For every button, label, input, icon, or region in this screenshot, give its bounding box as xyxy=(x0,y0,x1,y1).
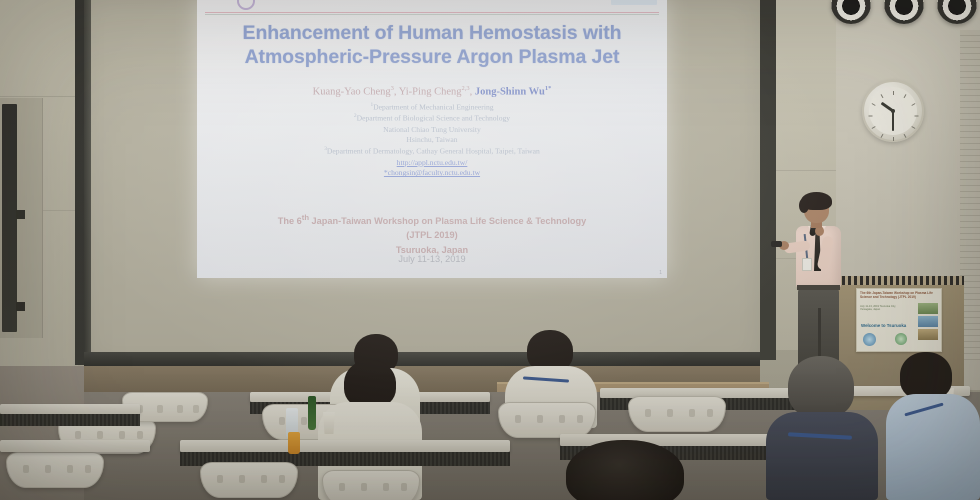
projected-slide: JTPL 2019 Enhancement of Human Hemostasi… xyxy=(197,0,667,278)
slide-title-line-1: Enhancement of Human Hemostasis with xyxy=(211,22,653,46)
clock-minute-hand xyxy=(892,111,894,131)
affiliation-text: Hsinchu, Taiwan xyxy=(406,135,457,144)
desk xyxy=(0,404,140,414)
meeting-title-rest: Japan-Taiwan Workshop on Plasma Life Sci… xyxy=(309,216,586,226)
lecture-hall-photo: JTPL 2019 Enhancement of Human Hemostasi… xyxy=(0,0,980,500)
slide-page-number: 1 xyxy=(659,270,662,276)
tea-bottle xyxy=(288,432,300,454)
poster-welcome-text: Welcome to Tsuruoka xyxy=(861,323,906,328)
author-2-sup: 2,3 xyxy=(461,85,469,92)
meeting-ordinal-sup: th xyxy=(302,213,309,222)
poster-body: July 11-13, 2019 Tsuruoka City, Yamagata… xyxy=(860,305,906,312)
author-2: , Yi-Ping Cheng xyxy=(394,87,462,98)
presenter-hair-side xyxy=(799,198,809,213)
slide-title: Enhancement of Human Hemostasis with Atm… xyxy=(211,22,653,70)
dark-column xyxy=(75,0,84,365)
slide-meeting-info: The 6th Japan-Taiwan Workshop on Plasma … xyxy=(207,212,657,257)
seat-chair[interactable] xyxy=(6,452,104,488)
workshop-logo-icon xyxy=(611,0,657,5)
affiliation-text: National Chiao Tung University xyxy=(383,125,481,134)
poster-heading: The 6th Japan-Taiwan Workshop on Plasma … xyxy=(860,291,938,299)
affiliation-text: Department of Dermatology, Cathay Genera… xyxy=(327,147,540,156)
poster-emblem-icon xyxy=(863,333,876,346)
seat-chair xyxy=(498,402,596,438)
affiliation-text: Department of Mechanical Engineering xyxy=(373,103,493,112)
clock-face xyxy=(869,87,917,135)
affiliation-row: National Chiao Tung University xyxy=(207,125,657,136)
affiliation-row: 1Department of Mechanical Engineering xyxy=(207,102,657,113)
poster-photo-icon xyxy=(918,303,938,314)
meeting-title-prefix: The 6 xyxy=(278,216,302,226)
presenter xyxy=(782,196,856,380)
header-rule-grey xyxy=(205,14,659,15)
niche-fixture xyxy=(16,302,25,311)
slide-header-band: JTPL 2019 xyxy=(197,0,667,12)
lab-url[interactable]: http://appl.nctu.edu.tw/ xyxy=(397,158,468,167)
slide-header-title: JTPL 2019 xyxy=(197,0,667,2)
clock-center-pin xyxy=(891,109,895,113)
slide-affiliations: 1Department of Mechanical Engineering 2D… xyxy=(207,102,657,179)
affiliation-text: Department of Biological Science and Tec… xyxy=(357,114,510,123)
affiliation-row: Hsinchu, Taiwan xyxy=(207,135,657,146)
slide-authors: Kuang-Yao Cheng3, Yi-Ping Cheng2,3, Jong… xyxy=(207,85,657,98)
contact-email[interactable]: *chongsin@faculty.nctu.edu.tw xyxy=(384,168,480,177)
desk-front-panel xyxy=(0,414,140,426)
attendee-head xyxy=(566,440,684,500)
meeting-title-line: The 6th Japan-Taiwan Workshop on Plasma … xyxy=(207,212,657,228)
poster-photo-icon xyxy=(918,316,938,327)
attendee-torso xyxy=(766,412,878,500)
niche-dark-strip xyxy=(2,104,17,332)
meeting-date: July 11-13, 2019 xyxy=(207,254,657,264)
desk xyxy=(0,440,150,452)
contact-email-row: *chongsin@faculty.nctu.edu.tw xyxy=(207,168,657,179)
lab-url-row: http://appl.nctu.edu.tw/ xyxy=(207,158,657,169)
presenter-name-badge xyxy=(802,258,812,271)
affiliation-row: 3Department of Dermatology, Cathay Gener… xyxy=(207,146,657,157)
seat-chair[interactable] xyxy=(200,462,298,498)
author-1: Kuang-Yao Cheng xyxy=(313,87,391,98)
attendee-head xyxy=(900,352,952,400)
header-rule-red xyxy=(205,12,659,13)
seat-chair[interactable] xyxy=(322,470,420,500)
presentation-clicker-icon xyxy=(771,241,782,247)
poster-emblem-icon xyxy=(895,333,907,345)
seat-chair xyxy=(628,396,726,432)
attendee-head xyxy=(344,360,396,408)
attendee-torso xyxy=(886,394,980,500)
attendee-far-right xyxy=(886,352,980,500)
corresponding-author: Jong-Shinn Wu xyxy=(475,87,545,98)
attendee-right-dark xyxy=(766,356,878,500)
attendee-head xyxy=(788,356,854,418)
desk xyxy=(180,440,510,452)
presenter-belt xyxy=(797,285,840,290)
green-bottle xyxy=(308,396,316,430)
meeting-acronym: (JTPL 2019) xyxy=(207,228,657,242)
wall-seam xyxy=(776,170,836,171)
wall-seam xyxy=(0,96,78,97)
screen-border-left xyxy=(84,0,91,360)
stage-pillar xyxy=(758,0,776,360)
wall-clock xyxy=(862,80,924,142)
affiliation-row: 2Department of Biological Science and Te… xyxy=(207,113,657,124)
slide-title-line-2: Atmospheric-Pressure Argon Plasma Jet xyxy=(211,46,653,70)
niche-fixture xyxy=(16,210,25,219)
poster-photo-icon xyxy=(918,329,938,340)
attendee-foreground xyxy=(556,440,700,500)
welcome-poster: The 6th Japan-Taiwan Workshop on Plasma … xyxy=(856,288,942,352)
corresponding-author-sup: 1* xyxy=(545,85,552,92)
